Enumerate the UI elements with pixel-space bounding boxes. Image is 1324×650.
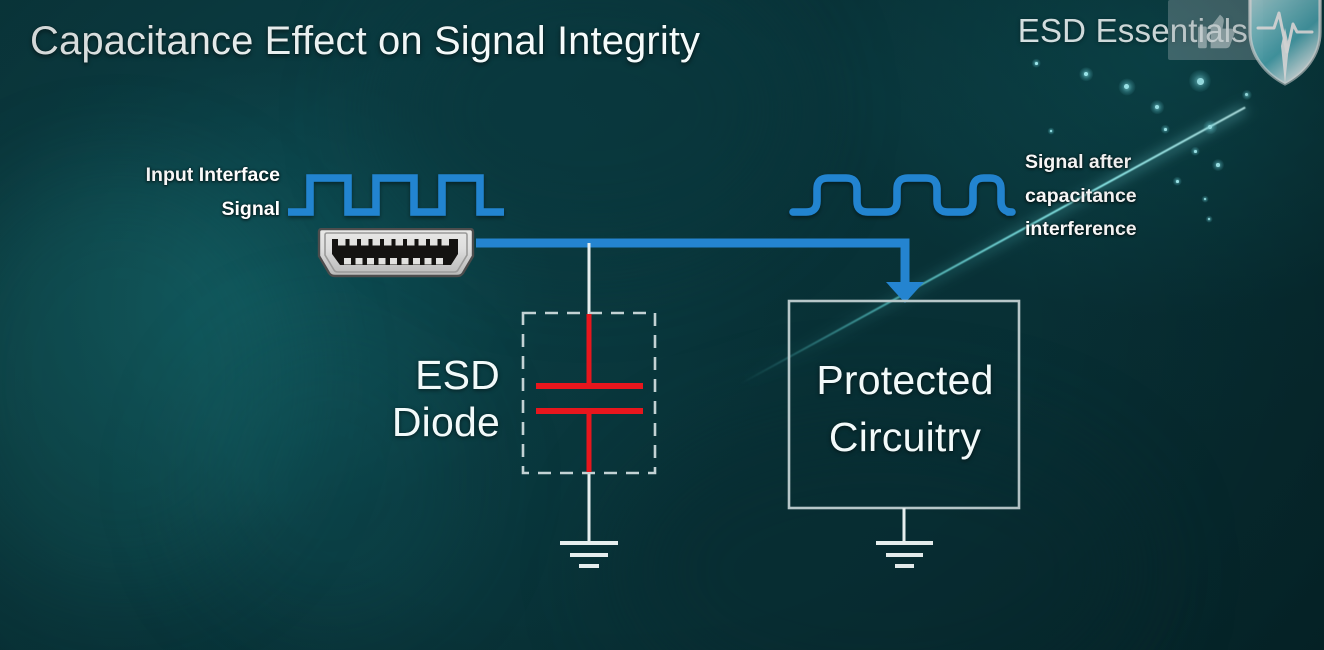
input-square-waveform [288,178,504,212]
esd-diode-label-line1: ESD [330,352,500,399]
ground-icon [876,543,933,566]
slide-canvas: Capacitance Effect on Signal Integrity E… [0,0,1324,650]
protected-circuitry-label: Protected Circuitry [790,352,1020,467]
esd-diode-label-line2: Diode [330,399,500,446]
hdmi-pin [344,258,443,265]
ground-icon [560,543,618,566]
circuit-diagram [0,0,1324,650]
output-rounded-waveform [793,178,1012,212]
esd-diode-label: ESD Diode [330,352,500,446]
hdmi-connector [307,228,485,280]
protected-circuitry-label-line2: Circuitry [790,409,1020,466]
capacitor-symbol [536,314,643,472]
signal-trace [476,243,924,303]
protected-circuitry-label-line1: Protected [790,352,1020,409]
